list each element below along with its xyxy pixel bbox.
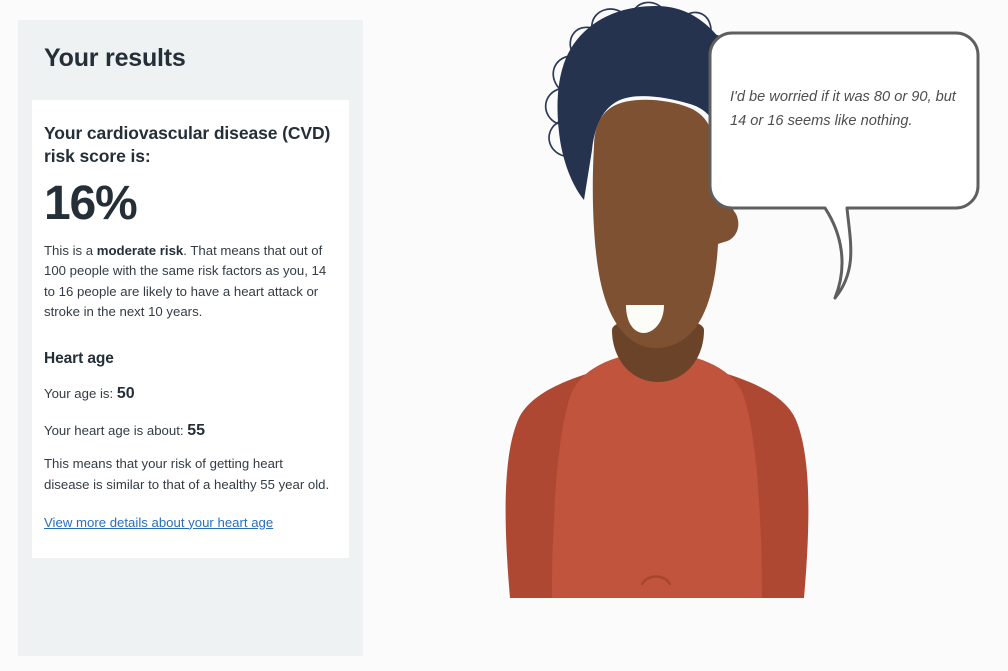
speech-bubble <box>710 33 978 298</box>
risk-level-label: moderate risk <box>97 243 184 258</box>
results-panel: Your results Your cardiovascular disease… <box>18 20 363 656</box>
risk-score-value: 16% <box>44 179 331 230</box>
sweater-torso <box>552 352 762 598</box>
heart-age-row: Your heart age is about: 55 <box>44 420 331 442</box>
your-age-row: Your age is: 50 <box>44 383 331 405</box>
speech-bubble-text: I'd be worried if it was 80 or 90, but 1… <box>730 86 962 133</box>
cvd-risk-heading: Your cardiovascular disease (CVD) risk s… <box>44 122 331 169</box>
risk-explanation-prefix: This is a <box>44 243 97 258</box>
heart-age-value: 55 <box>187 422 205 439</box>
your-age-value: 50 <box>117 385 135 402</box>
heart-age-explanation: This means that your risk of getting hea… <box>44 454 331 494</box>
risk-result-card: Your cardiovascular disease (CVD) risk s… <box>32 100 349 558</box>
heart-age-details-link[interactable]: View more details about your heart age <box>44 515 273 530</box>
heart-age-label: Your heart age is about: <box>44 423 187 438</box>
heart-age-heading: Heart age <box>44 350 331 368</box>
your-age-label: Your age is: <box>44 386 117 401</box>
risk-explanation-text: This is a moderate risk. That means that… <box>44 241 331 321</box>
page-title: Your results <box>18 20 363 73</box>
